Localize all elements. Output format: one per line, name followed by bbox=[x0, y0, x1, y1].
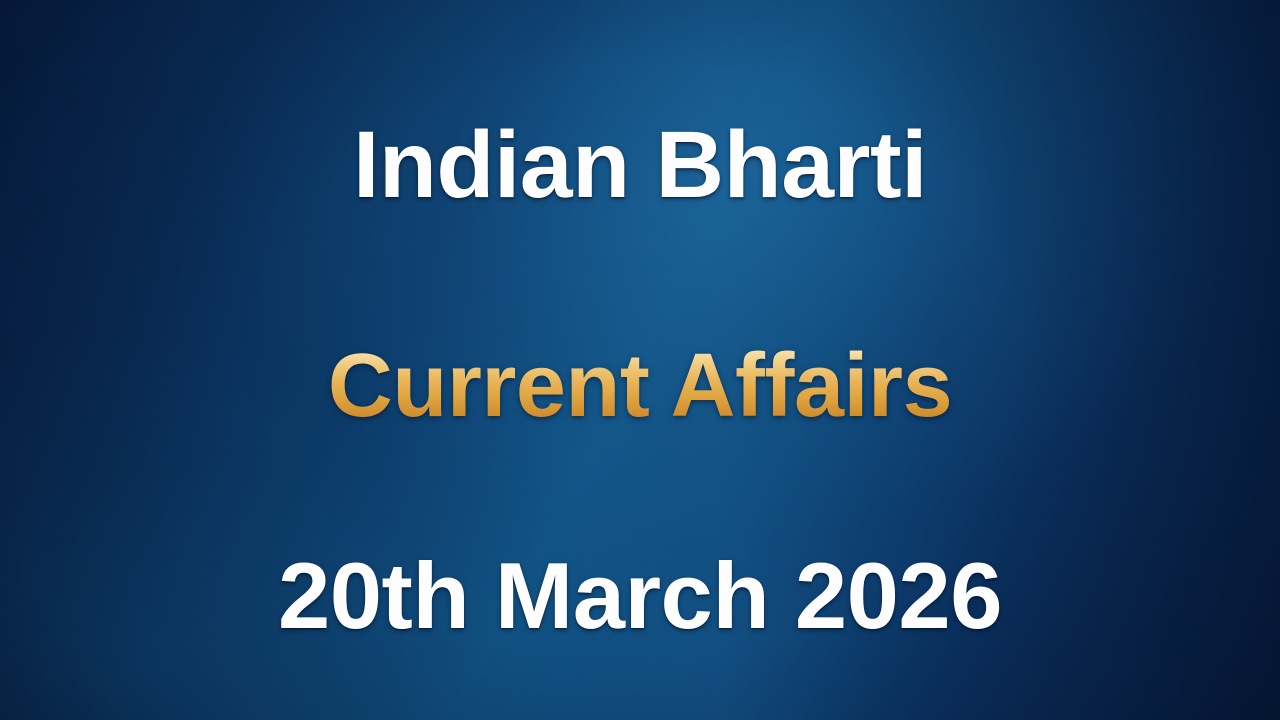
current-affairs-banner: Indian Bharti Current Affairs 20th March… bbox=[0, 0, 1280, 720]
banner-content: Indian Bharti Current Affairs 20th March… bbox=[0, 0, 1280, 720]
banner-subheading: Current Affairs bbox=[0, 341, 1280, 431]
banner-headline: Indian Bharti bbox=[0, 118, 1280, 213]
banner-date: 20th March 2026 bbox=[0, 549, 1280, 643]
